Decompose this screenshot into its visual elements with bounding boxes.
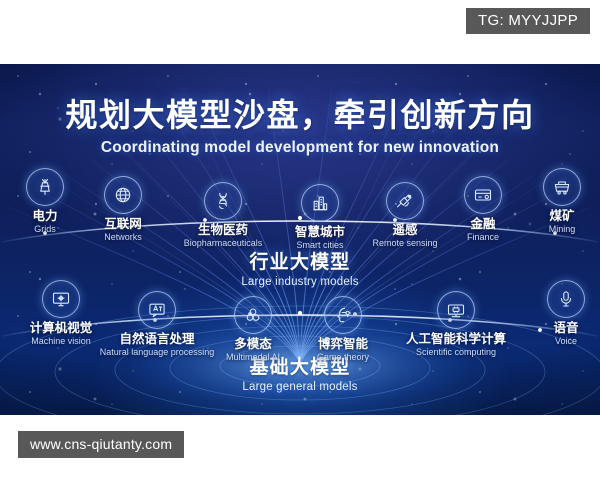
server-chip-icon bbox=[437, 291, 475, 329]
hero-banner-image: 规划大模型沙盘，牵引创新方向 Coordinating model develo… bbox=[0, 64, 600, 415]
city-buildings-icon bbox=[301, 184, 339, 222]
foundation-label-en: Scientific computing bbox=[386, 347, 526, 358]
industry-node-mining[interactable]: 煤矿 Mining bbox=[492, 168, 600, 236]
headline-chinese: 规划大模型沙盘，牵引创新方向 bbox=[0, 98, 600, 134]
foundation-label-cn: 语音 bbox=[496, 321, 600, 335]
three-circles-icon bbox=[234, 296, 272, 334]
brain-profile-icon bbox=[324, 296, 362, 334]
banner-headline-block: 规划大模型沙盘，牵引创新方向 Coordinating model develo… bbox=[0, 98, 600, 157]
tier-title-en: Large general models bbox=[0, 381, 600, 393]
text-translate-icon bbox=[138, 291, 176, 329]
industry-label-en: Mining bbox=[492, 224, 600, 235]
monitor-vision-icon bbox=[42, 280, 80, 318]
foundation-node-voice[interactable]: 语音 Voice bbox=[496, 280, 600, 348]
globe-network-icon bbox=[104, 176, 142, 214]
industry-label-cn: 煤矿 bbox=[492, 209, 600, 223]
dna-helix-icon bbox=[204, 182, 242, 220]
headline-english: Coordinating model development for new i… bbox=[0, 139, 600, 157]
mine-cart-icon bbox=[543, 168, 581, 206]
foundation-label-en: Voice bbox=[496, 336, 600, 347]
tg-watermark-badge: TG: MYYJJPP bbox=[466, 8, 590, 34]
microphone-icon bbox=[547, 280, 585, 318]
site-url-watermark-badge: www.cns-qiutanty.com bbox=[18, 431, 184, 458]
